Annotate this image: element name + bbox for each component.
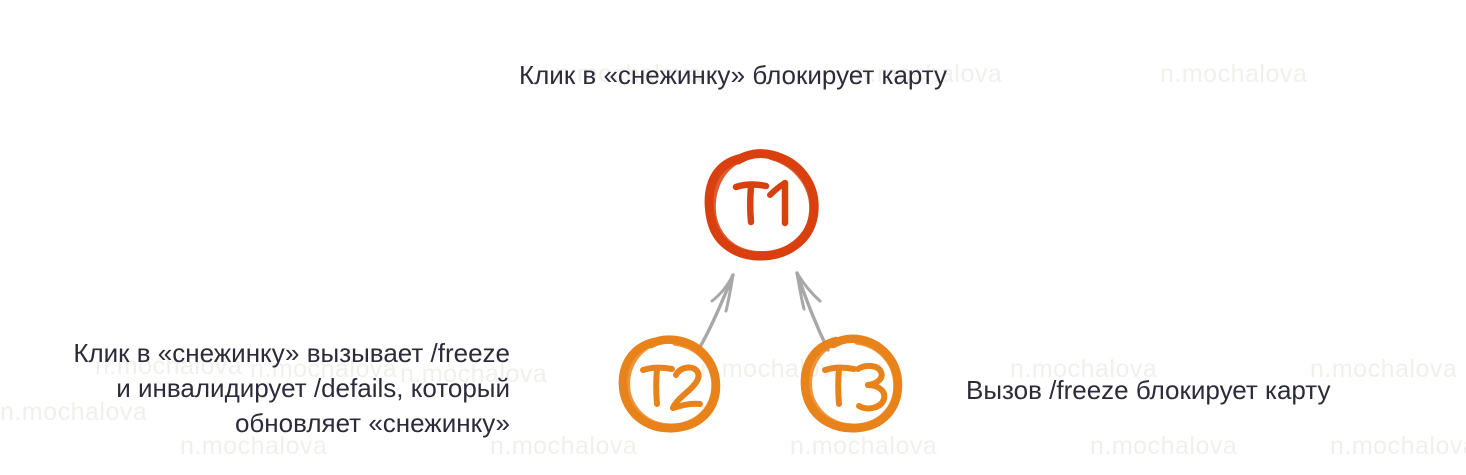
left-annotation-line-3: обновляет «снежинку» bbox=[20, 406, 510, 441]
right-annotation: Вызов /freeze блокирует карту bbox=[966, 373, 1331, 408]
edge-t2-to-t1 bbox=[700, 275, 733, 347]
node-t1-label bbox=[736, 183, 785, 223]
right-annotation-text: Вызов /freeze блокирует карту bbox=[966, 375, 1331, 405]
left-annotation-line-2: и инвалидирует /defails, который bbox=[20, 371, 510, 406]
node-t2[interactable] bbox=[623, 340, 716, 429]
title-text: Клик в «снежинку» блокирует карту bbox=[519, 60, 947, 90]
node-t3[interactable] bbox=[805, 339, 898, 429]
left-annotation-line-1: Клик в «снежинку» вызывает /freeze bbox=[20, 336, 510, 371]
node-t1[interactable] bbox=[709, 154, 814, 256]
title-caption: Клик в «снежинку» блокирует карту bbox=[0, 58, 1466, 93]
node-t2-label bbox=[643, 368, 700, 408]
edge-t3-to-t1 bbox=[797, 273, 828, 350]
node-t3-label bbox=[825, 366, 884, 409]
left-annotation: Клик в «снежинку» вызывает /freeze и инв… bbox=[20, 336, 510, 441]
diagram-canvas: n.mochalovan.mochalovan.mochalovan.mocha… bbox=[0, 0, 1466, 475]
